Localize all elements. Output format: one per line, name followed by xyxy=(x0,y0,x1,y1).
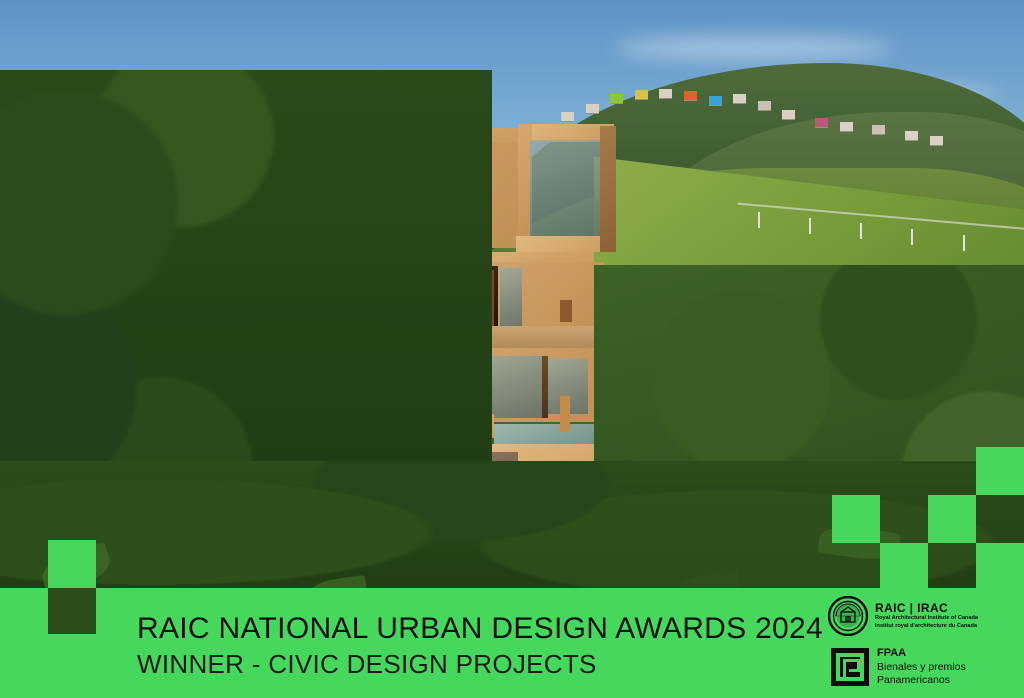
raic-acronyms: RAIC | IRAC xyxy=(875,602,978,615)
fpaa-mark-icon xyxy=(831,648,869,686)
page-title: RAIC NATIONAL URBAN DESIGN AWARDS 2024 xyxy=(137,612,823,646)
fpaa-line-2: Panamericanos xyxy=(877,674,966,687)
fpaa-line-1: Bienales y premios xyxy=(877,661,966,674)
raic-logo: RAIC | IRAC Royal Architectural Institut… xyxy=(828,596,978,636)
fpaa-logo-text: FPAA Bienales y premios Panamericanos xyxy=(877,647,966,687)
raic-seal-icon xyxy=(828,596,868,636)
fpaa-logo: FPAA Bienales y premios Panamericanos xyxy=(831,647,966,687)
raic-logo-text: RAIC | IRAC Royal Architectural Institut… xyxy=(875,602,978,630)
checkerboard-decoration-left-cutout xyxy=(48,588,96,634)
checkerboard-decoration-right xyxy=(832,447,1024,598)
fpaa-acronym: FPAA xyxy=(877,647,966,661)
award-category-subtitle: WINNER - CIVIC DESIGN PROJECTS xyxy=(137,649,823,680)
raic-name-fr: Institut royal d'architecture du Canada xyxy=(875,623,978,631)
checkerboard-decoration-left-square xyxy=(48,540,96,588)
award-poster: RAIC NATIONAL URBAN DESIGN AWARDS 2024 W… xyxy=(0,0,1024,698)
raic-name-en: Royal Architectural Institute of Canada xyxy=(875,615,978,623)
banner-text-block: RAIC NATIONAL URBAN DESIGN AWARDS 2024 W… xyxy=(137,612,823,680)
